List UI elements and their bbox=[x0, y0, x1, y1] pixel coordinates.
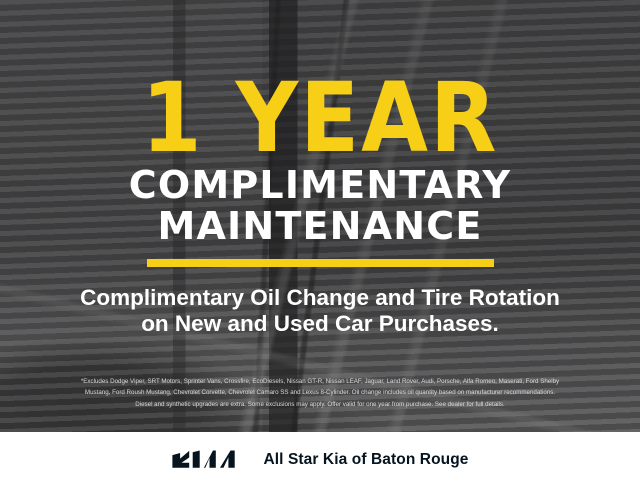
headline-year: 1 YEAR bbox=[141, 74, 498, 162]
dealer-name: All Star Kia of Baton Rouge bbox=[263, 451, 468, 469]
offer-line-2: on New and Used Car Purchases. bbox=[141, 311, 499, 337]
yellow-divider-bar bbox=[147, 259, 494, 267]
hero-section: 1 YEAR COMPLIMENTARY MAINTENANCE Complim… bbox=[0, 0, 640, 432]
disclaimer-line-1: *Excludes Dodge Viper, SRT Motors, Sprin… bbox=[12, 376, 628, 387]
disclaimer-text: *Excludes Dodge Viper, SRT Motors, Sprin… bbox=[12, 376, 628, 410]
kia-logo-icon bbox=[171, 450, 241, 470]
disclaimer-line-2: Mustang, Ford Roush Mustang, Chevrolet C… bbox=[12, 387, 628, 398]
disclaimer-line-3: Diesel and synthetic upgrades are extra.… bbox=[12, 399, 628, 410]
dealer-footer-bar: All Star Kia of Baton Rouge bbox=[0, 432, 640, 488]
offer-line-1: Complimentary Oil Change and Tire Rotati… bbox=[80, 285, 560, 311]
hero-content: 1 YEAR COMPLIMENTARY MAINTENANCE Complim… bbox=[0, 0, 640, 432]
promo-banner: 1 YEAR COMPLIMENTARY MAINTENANCE Complim… bbox=[0, 0, 640, 488]
headline-maintenance: MAINTENANCE bbox=[157, 207, 482, 245]
headline-complimentary: COMPLIMENTARY bbox=[129, 166, 511, 204]
